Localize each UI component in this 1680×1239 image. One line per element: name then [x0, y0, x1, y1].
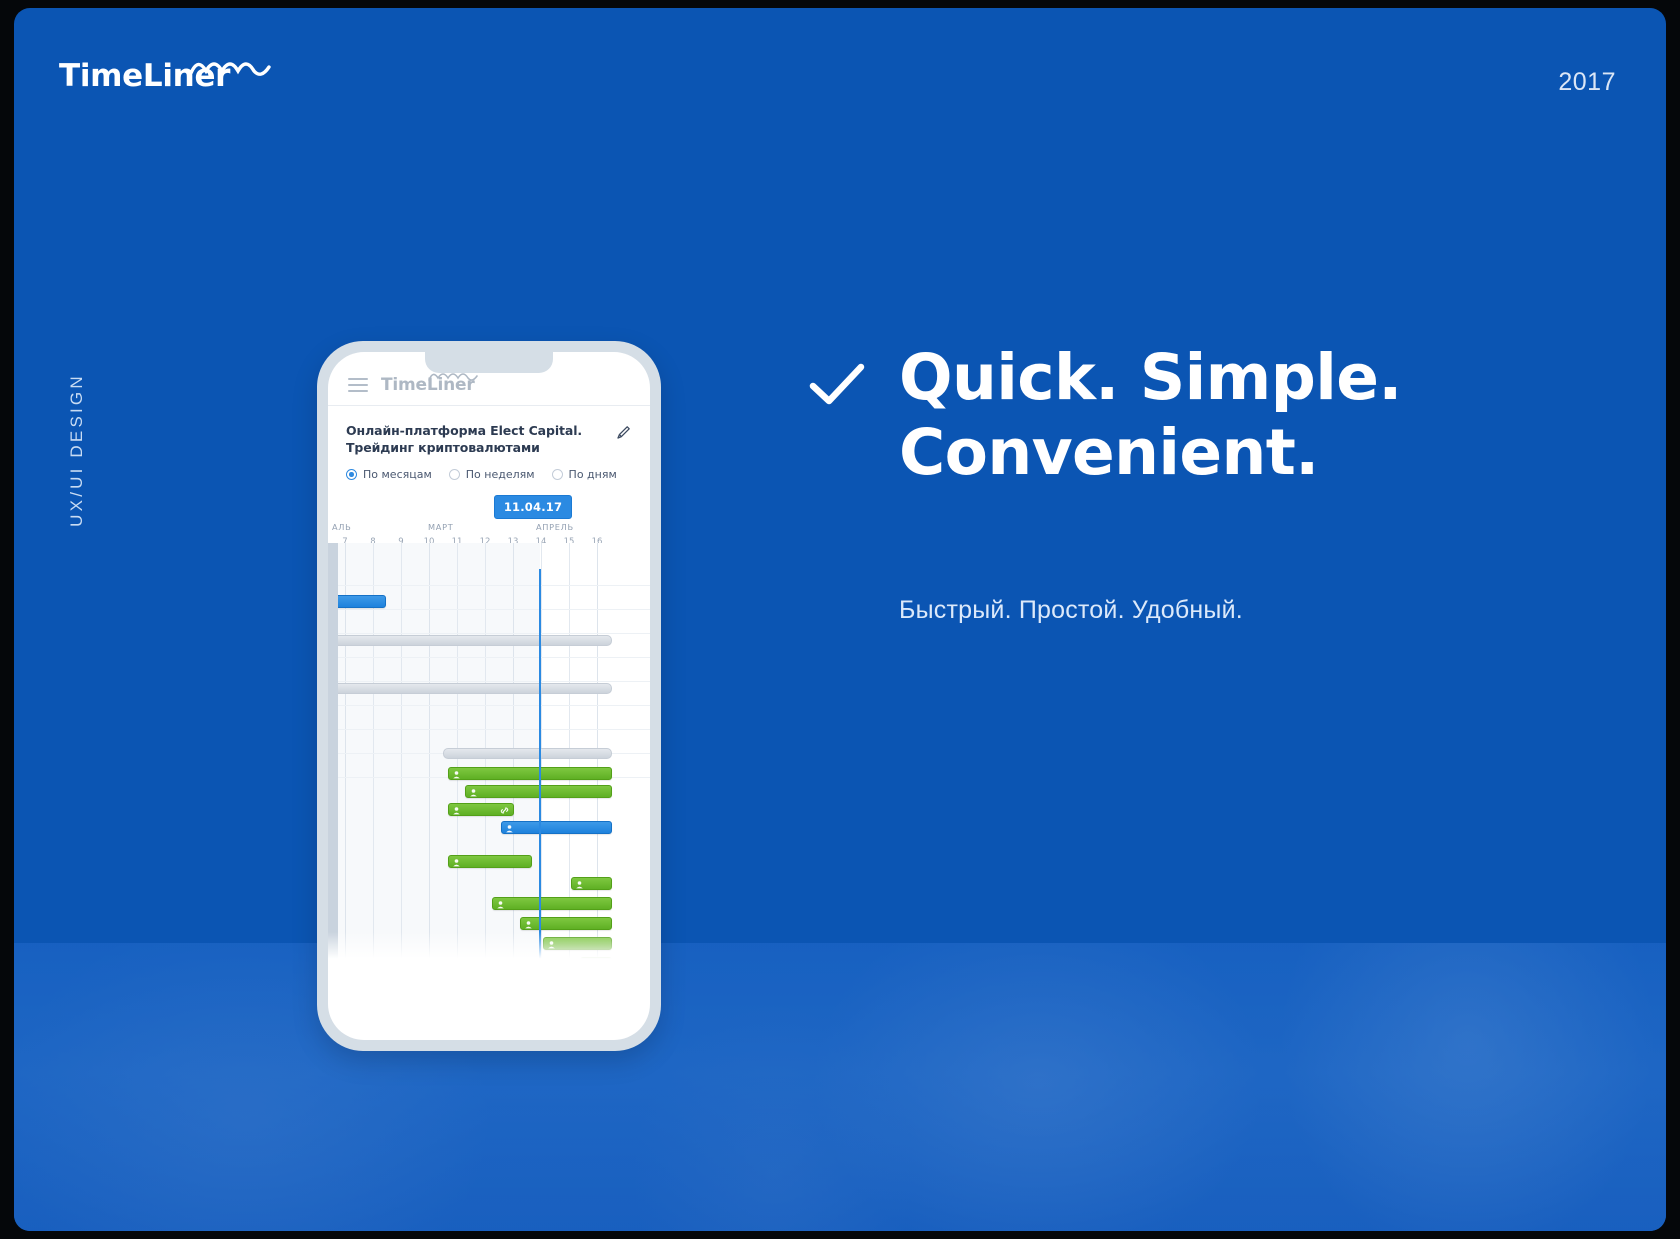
user-icon: [452, 770, 461, 779]
hero-heading-block: Quick. Simple. Convenient.: [809, 340, 1429, 490]
radio-label: По дням: [569, 468, 617, 481]
scroll-fade: [328, 932, 650, 966]
hamburger-icon[interactable]: [348, 378, 368, 392]
task-bar[interactable]: [448, 803, 514, 816]
month-label: МАРТ: [428, 522, 453, 532]
task-bar[interactable]: [501, 821, 612, 834]
task-bar[interactable]: [571, 877, 612, 890]
project-title-line1: Онлайн-платформа Elect Capital.: [346, 422, 582, 439]
scale-radio-group: По месяцам По неделям По дням: [328, 456, 650, 493]
task-bar[interactable]: [448, 855, 532, 868]
summary-bar[interactable]: [328, 635, 612, 646]
user-icon: [452, 806, 461, 815]
brand-logo: TimeLiner: [59, 56, 289, 106]
phone-screen: TimeLiner Онлайн-платформа Elect Capital…: [328, 352, 650, 1040]
photo-blue-tint: [14, 943, 1666, 1231]
radio-po-dnyam[interactable]: По дням: [552, 468, 617, 481]
radio-dot: [346, 469, 357, 480]
user-icon: [524, 920, 533, 929]
link-icon: [500, 806, 509, 815]
hero-headline-line1: Quick. Simple.: [899, 340, 1429, 415]
month-label: АПРЕЛЬ: [536, 522, 574, 532]
radio-label: По неделям: [466, 468, 535, 481]
task-bar[interactable]: [520, 917, 612, 930]
month-label: АЛЬ: [332, 522, 351, 532]
radio-label: По месяцам: [363, 468, 432, 481]
user-icon: [575, 880, 584, 889]
side-discipline-label: UX/UI DESIGN: [67, 335, 87, 565]
radio-dot: [449, 469, 460, 480]
radio-po-nedelyam[interactable]: По неделям: [449, 468, 535, 481]
gantt-chart[interactable]: 11.04.17 АЛЬ МАРТ АПРЕЛЬ 7 8 9 10 11 12 …: [328, 493, 650, 966]
summary-bar[interactable]: [443, 748, 612, 759]
hero-headline: Quick. Simple. Convenient.: [899, 340, 1429, 490]
check-icon: [809, 362, 865, 408]
phone-mockup: TimeLiner Онлайн-платформа Elect Capital…: [317, 341, 661, 1051]
wave-icon: [189, 55, 279, 79]
project-title: Онлайн-платформа Elect Capital. Трейдинг…: [346, 422, 582, 456]
left-gutter: [328, 543, 338, 966]
hero-subline: Быстрый. Простой. Удобный.: [899, 596, 1243, 625]
app-logo: TimeLiner: [381, 375, 475, 395]
phone-notch: [425, 352, 553, 373]
user-icon: [469, 788, 478, 797]
radio-dot: [552, 469, 563, 480]
gantt-grid: [328, 543, 650, 966]
summary-bar[interactable]: [328, 683, 612, 694]
month-axis: АЛЬ МАРТ АПРЕЛЬ: [328, 522, 650, 536]
project-header: Онлайн-платформа Elect Capital. Трейдинг…: [328, 406, 650, 456]
background-photo-band: [14, 943, 1666, 1231]
project-title-line2: Трейдинг криптовалютами: [346, 439, 582, 456]
task-bar[interactable]: [492, 897, 612, 910]
user-icon: [452, 858, 461, 867]
today-date-badge[interactable]: 11.04.17: [494, 495, 572, 519]
year-label: 2017: [1558, 68, 1616, 97]
user-icon: [496, 900, 505, 909]
hero-headline-line2: Convenient.: [899, 415, 1429, 490]
pencil-icon[interactable]: [615, 424, 632, 441]
radio-po-mesyacam[interactable]: По месяцам: [346, 468, 432, 481]
task-bar[interactable]: [448, 767, 612, 780]
slide-canvas: TimeLiner 2017 UX/UI DESIGN Quick. Simpl…: [14, 8, 1666, 1231]
user-icon: [505, 824, 514, 833]
today-line: [539, 569, 541, 966]
gantt-header: 11.04.17 АЛЬ МАРТ АПРЕЛЬ 7 8 9 10 11 12 …: [328, 493, 650, 543]
